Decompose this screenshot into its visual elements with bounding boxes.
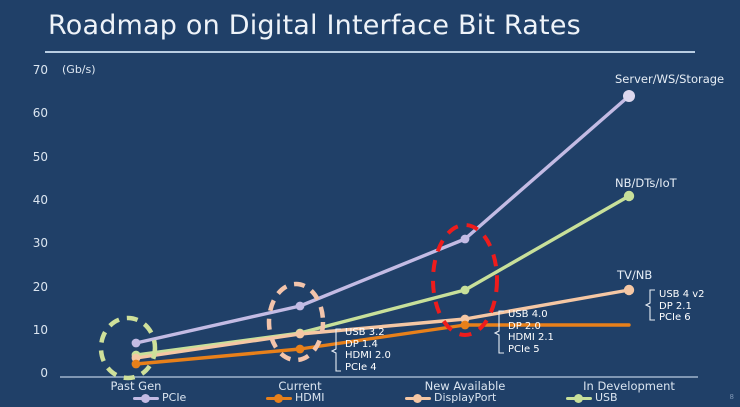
legend-item-displayport[interactable]: DisplayPort: [405, 391, 496, 404]
legend-label-displayport: DisplayPort: [434, 391, 496, 404]
annotation-current-line-1: USB 3.2: [345, 327, 391, 339]
annotation-current: USB 3.2 DP 1.4 HDMI 2.0 PCIe 4: [345, 327, 391, 373]
point-pcie-in-development: [623, 90, 635, 102]
legend-swatch-pcie: [133, 393, 159, 403]
annotation-new-line-2: DP 2.0: [508, 321, 554, 333]
highlight-ellipse-past-gen: [101, 318, 155, 378]
annotation-dev-line-1: USB 4 v2: [659, 289, 705, 301]
annotation-new-line-1: USB 4.0: [508, 309, 554, 321]
annotation-new-available: USB 4.0 DP 2.0 HDMI 2.1 PCIe 5: [508, 309, 554, 355]
legend-swatch-usb: [566, 393, 592, 403]
annotation-new-line-3: HDMI 2.1: [508, 332, 554, 344]
point-usb-in-development: [624, 191, 634, 201]
point-hdmi-current: [296, 345, 305, 354]
legend-item-usb[interactable]: USB: [566, 391, 618, 404]
endpoint-label-server: Server/WS/Storage: [615, 72, 724, 86]
endpoint-label-tv-nb: TV/NB: [617, 268, 652, 282]
point-usb-new-available: [461, 286, 470, 295]
brace-new-available: [495, 311, 504, 353]
legend-label-pcie: PCIe: [162, 391, 186, 404]
legend-label-hdmi: HDMI: [295, 391, 324, 404]
annotation-current-line-3: HDMI 2.0: [345, 350, 391, 362]
point-dp-in-development: [624, 285, 634, 295]
point-hdmi-past-gen: [132, 360, 141, 369]
point-pcie-current: [296, 302, 305, 311]
point-dp-current: [296, 330, 305, 339]
brace-current: [332, 329, 341, 371]
legend-swatch-displayport: [405, 393, 431, 403]
slide-canvas: Roadmap on Digital Interface Bit Rates (…: [0, 0, 740, 407]
endpoint-label-nb-dts-iot: NB/DTs/IoT: [615, 176, 677, 190]
annotation-current-line-2: DP 1.4: [345, 339, 391, 351]
legend-item-pcie[interactable]: PCIe: [133, 391, 186, 404]
legend-label-usb: USB: [595, 391, 618, 404]
annotation-new-line-4: PCIe 5: [508, 344, 554, 356]
series-line-pcie: [136, 96, 629, 343]
annotation-in-development: USB 4 v2 DP 2.1 PCIe 6: [659, 289, 705, 324]
annotation-dev-line-3: PCIe 6: [659, 312, 705, 324]
annotation-dev-line-2: DP 2.1: [659, 301, 705, 313]
point-hdmi-new-available: [461, 321, 470, 330]
legend-item-hdmi[interactable]: HDMI: [266, 391, 324, 404]
annotation-current-line-4: PCIe 4: [345, 362, 391, 374]
brace-in-development: [646, 290, 655, 320]
point-pcie-past-gen: [132, 339, 141, 348]
page-number: 8: [730, 393, 734, 401]
point-pcie-new-available: [461, 235, 470, 244]
legend-swatch-hdmi: [266, 393, 292, 403]
